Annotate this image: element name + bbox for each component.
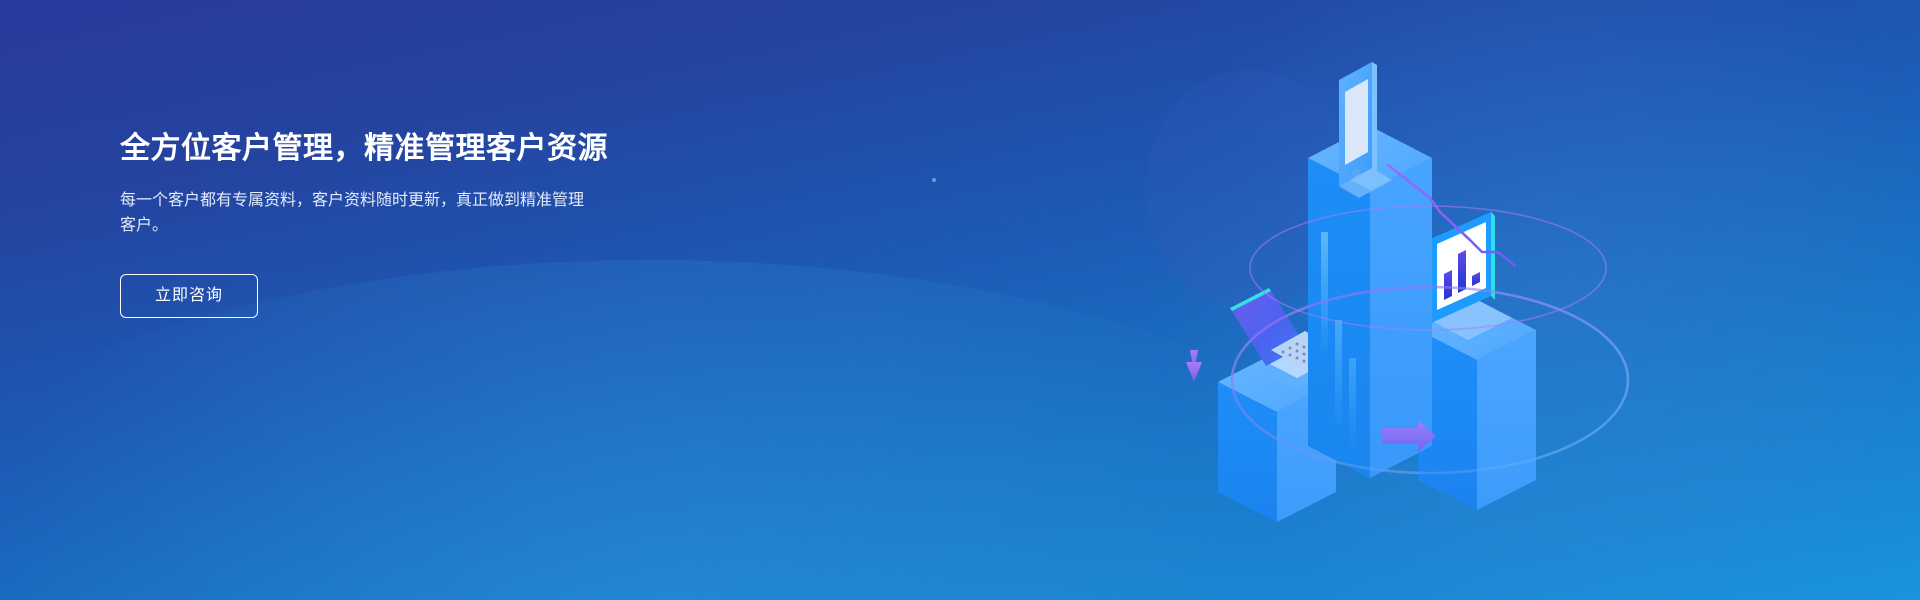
hero-copy: 全方位客户管理，精准管理客户资源 每一个客户都有专属资料，客户资料随时更新，真正…: [120, 128, 760, 318]
hero-subtitle: 每一个客户都有专属资料，客户资料随时更新，真正做到精准管理客户。: [120, 188, 598, 238]
hero-illustration: [1130, 0, 1730, 600]
hero-banner: 全方位客户管理，精准管理客户资源 每一个客户都有专属资料，客户资料随时更新，真正…: [0, 0, 1920, 600]
monitor-device: [1430, 212, 1512, 340]
consult-now-button[interactable]: 立即咨询: [120, 274, 258, 318]
orbit-arrow-left: [1186, 350, 1202, 382]
background-speck: [932, 178, 936, 182]
page-title: 全方位客户管理，精准管理客户资源: [120, 128, 760, 170]
tablet-device: [1339, 62, 1392, 198]
